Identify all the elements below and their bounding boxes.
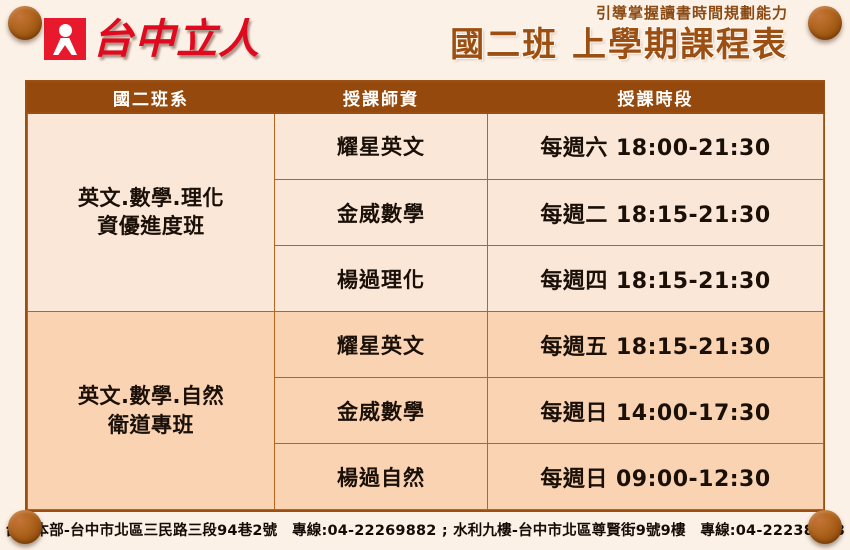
corner-bolt-bottom-right	[808, 510, 842, 544]
page-header: 台中立人 引導掌握讀書時間規劃能力 國二班 上學期課程表	[0, 0, 850, 78]
group-name-cell-1: 英文.數學.理化 資優進度班	[28, 113, 275, 312]
page-title: 國二班 上學期課程表	[450, 25, 788, 65]
group-name-line2: 資優進度班	[28, 212, 274, 240]
column-header-teacher: 授課師資	[275, 83, 488, 113]
teacher-cell: 耀星英文	[275, 113, 488, 180]
column-header-time: 授課時段	[488, 83, 824, 113]
table-row: 英文.數學.理化 資優進度班 耀星英文 每週六 18:00-21:30	[28, 113, 824, 180]
figure-body-shape	[53, 38, 77, 55]
time-cell: 每週日 14:00-17:30	[488, 378, 824, 444]
time-cell: 每週四 18:15-21:30	[488, 246, 824, 312]
page-subtitle: 引導掌握讀書時間規劃能力	[450, 2, 788, 25]
page-footer: 台中本部-台中市北區三民路三段94巷2號 專線:04-22269882 ; 水利…	[0, 514, 850, 544]
group-name-line1: 英文.數學.自然	[28, 382, 274, 410]
teacher-cell: 金威數學	[275, 378, 488, 444]
teacher-cell: 耀星英文	[275, 312, 488, 378]
figure-head-shape	[59, 24, 72, 37]
title-block: 引導掌握讀書時間規劃能力 國二班 上學期課程表	[450, 2, 788, 65]
time-cell: 每週日 09:00-12:30	[488, 444, 824, 510]
teacher-cell: 楊過自然	[275, 444, 488, 510]
schedule-table-container: 國二班系 授課師資 授課時段 英文.數學.理化 資優進度班 耀星英文 每週六 1…	[25, 80, 825, 512]
brand-name: 台中立人	[92, 19, 260, 60]
time-cell: 每週二 18:15-21:30	[488, 180, 824, 246]
table-header-row: 國二班系 授課師資 授課時段	[28, 83, 824, 113]
group-name-line2: 衛道專班	[28, 411, 274, 439]
corner-bolt-bottom-left	[8, 510, 42, 544]
footer-contact-text: 台中本部-台中市北區三民路三段94巷2號 專線:04-22269882 ; 水利…	[5, 519, 845, 540]
time-cell: 每週六 18:00-21:30	[488, 113, 824, 180]
teacher-cell: 楊過理化	[275, 246, 488, 312]
corner-bolt-top-right	[808, 6, 842, 40]
group-name-cell-2: 英文.數學.自然 衛道專班	[28, 312, 275, 510]
column-header-class: 國二班系	[28, 83, 275, 113]
time-cell: 每週五 18:15-21:30	[488, 312, 824, 378]
person-figure-icon	[44, 18, 86, 60]
corner-bolt-top-left	[8, 6, 42, 40]
group-name-line1: 英文.數學.理化	[28, 184, 274, 212]
teacher-cell: 金威數學	[275, 180, 488, 246]
brand-logo: 台中立人	[44, 18, 260, 60]
schedule-table: 國二班系 授課師資 授課時段 英文.數學.理化 資優進度班 耀星英文 每週六 1…	[27, 82, 824, 510]
table-row: 英文.數學.自然 衛道專班 耀星英文 每週五 18:15-21:30	[28, 312, 824, 378]
